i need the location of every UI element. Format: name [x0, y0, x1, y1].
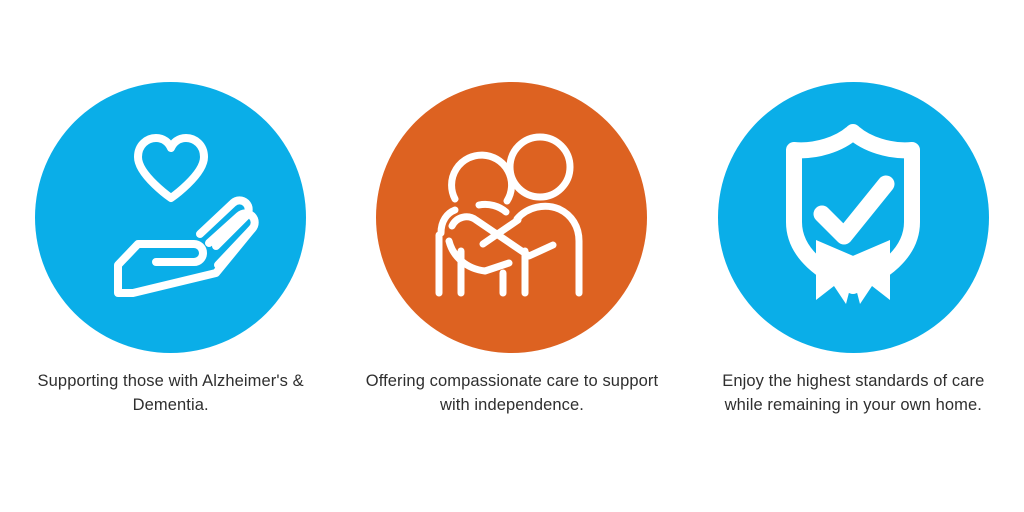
feature-item-alzheimers-dementia: Supporting those with Alzheimer's & Deme… — [0, 0, 341, 417]
icon-badge-orange-couple — [376, 82, 647, 353]
feature-item-standards-of-care: Enjoy the highest standards of care whil… — [683, 0, 1024, 417]
feature-caption: Enjoy the highest standards of care whil… — [703, 369, 1003, 417]
features-band: Supporting those with Alzheimer's & Deme… — [0, 0, 1024, 512]
shield-check-award-icon — [758, 118, 948, 318]
embracing-couple-icon — [417, 123, 607, 313]
icon-badge-blue-heart-hand — [35, 82, 306, 353]
icon-badge-blue-shield — [718, 82, 989, 353]
feature-caption: Offering compassionate care to support w… — [362, 369, 662, 417]
feature-item-compassionate-care: Offering compassionate care to support w… — [341, 0, 682, 417]
heart-in-hand-icon — [76, 123, 266, 313]
feature-caption: Supporting those with Alzheimer's & Deme… — [21, 369, 321, 417]
